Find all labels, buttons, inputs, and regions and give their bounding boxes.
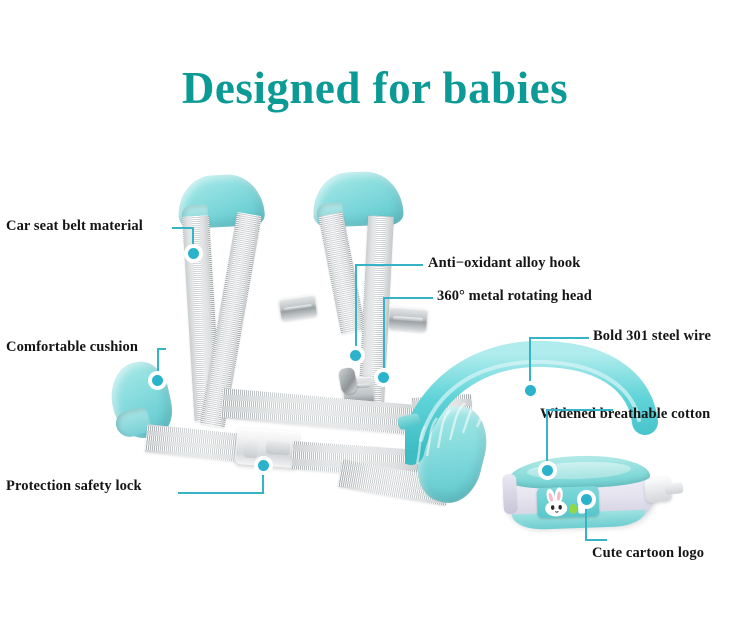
callout-label-bold-301-steel-wire: Bold 301 steel wire <box>593 328 711 345</box>
leader-line-cute-cartoon-logo-v <box>585 508 587 540</box>
marker-comfortable-cushion <box>148 371 167 390</box>
leader-line-comfortable-cushion-h <box>158 348 166 350</box>
metal-slider-buckle-center <box>279 295 318 321</box>
marker-car-seat-belt-material <box>184 244 203 263</box>
callout-label-car-seat-belt-material: Car seat belt material <box>6 218 143 235</box>
callout-label-protection-safety-lock: Protection safety lock <box>6 478 142 495</box>
leader-line-anti-oxidant-alloy-hook-h <box>355 264 423 266</box>
wristband-strap-loop <box>502 474 518 515</box>
leader-line-cute-cartoon-logo-h <box>585 539 607 541</box>
marker-cute-cartoon-logo <box>577 490 596 509</box>
product-illustration <box>0 0 750 628</box>
leader-line-anti-oxidant-alloy-hook-v <box>355 264 357 354</box>
marker-widened-breathable-cotton <box>538 461 557 480</box>
marker-metal-rotating-head <box>374 368 393 387</box>
leader-line-metal-rotating-head-h <box>383 297 433 299</box>
callout-label-anti-oxidant-alloy-hook: Anti−oxidant alloy hook <box>428 255 580 272</box>
leader-line-car-seat-belt-material-h <box>172 227 194 229</box>
leader-line-widened-breathable-cotton-v <box>546 409 548 465</box>
product-infographic: Designed for babies <box>0 0 750 628</box>
callout-label-cute-cartoon-logo: Cute cartoon logo <box>592 545 704 562</box>
leader-line-bold-301-steel-wire-h <box>529 337 589 339</box>
coiled-steel-wire <box>405 330 675 480</box>
wristband-buckle-stem <box>664 482 683 495</box>
leader-line-bold-301-steel-wire-v <box>529 337 531 383</box>
alloy-hook <box>338 367 358 395</box>
marker-bold-301-steel-wire <box>521 381 540 400</box>
callout-label-comfortable-cushion: Comfortable cushion <box>6 339 138 356</box>
marker-protection-safety-lock <box>254 456 273 475</box>
metal-slider-buckle-right <box>388 307 427 332</box>
leader-line-protection-safety-lock-h <box>178 492 264 494</box>
leader-line-widened-breathable-cotton-h <box>547 409 613 411</box>
marker-anti-oxidant-alloy-hook <box>346 346 365 365</box>
leader-line-metal-rotating-head-v <box>383 297 385 377</box>
callout-label-metal-rotating-head: 360° metal rotating head <box>437 288 592 305</box>
strap-center <box>318 212 365 335</box>
